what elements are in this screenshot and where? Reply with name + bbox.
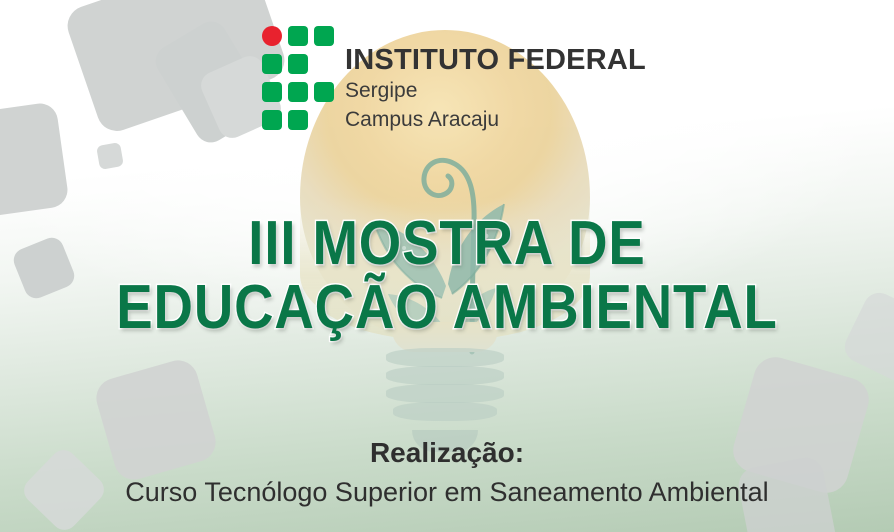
logo-square: [262, 54, 282, 74]
headline-line-1: III MOSTRA DE: [54, 214, 841, 274]
bulb-thread: [386, 366, 504, 385]
institution-title: INSTITUTO FEDERAL: [345, 46, 646, 75]
decor-square: [96, 142, 124, 170]
logo-square: [288, 82, 308, 102]
organizer-course-name: Curso Tecnólogo Superior em Saneamento A…: [0, 476, 894, 510]
logo-square: [288, 110, 308, 130]
logo-square: [314, 82, 334, 102]
institution-state: Sergipe: [345, 79, 646, 104]
footer-block: Realização: Curso Tecnólogo Superior em …: [0, 436, 894, 509]
realization-label: Realização:: [0, 436, 894, 470]
poster-canvas: INSTITUTO FEDERAL Sergipe Campus Aracaju…: [0, 0, 894, 532]
bulb-thread: [386, 348, 504, 367]
institution-text-block: INSTITUTO FEDERAL Sergipe Campus Aracaju: [345, 46, 646, 133]
logo-square: [288, 54, 308, 74]
bulb-thread: [393, 402, 497, 421]
logo-square: [288, 26, 308, 46]
logo-square: [314, 26, 334, 46]
institution-campus: Campus Aracaju: [345, 108, 646, 133]
event-headline: III MOSTRA DE EDUCAÇÃO AMBIENTAL: [0, 214, 894, 337]
decor-square: [0, 101, 70, 220]
headline-line-2: EDUCAÇÃO AMBIENTAL: [54, 278, 841, 338]
logo-square: [262, 110, 282, 130]
bulb-thread: [386, 384, 504, 403]
instituto-federal-logo: [262, 26, 336, 134]
logo-square: [262, 82, 282, 102]
logo-red-dot-icon: [262, 26, 282, 46]
